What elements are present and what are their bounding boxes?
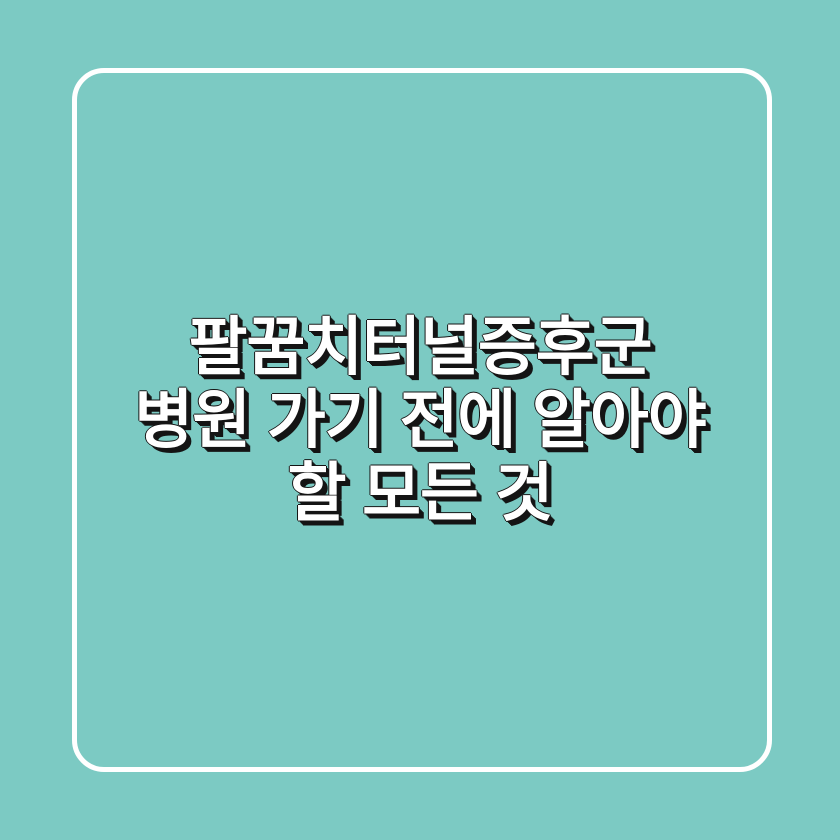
headline-line-2: 병원 가기 전에 알아야 xyxy=(60,384,780,457)
headline-line-1: 팔꿈치터널증후군 xyxy=(60,311,780,384)
headline-line-3: 할 모든 것 xyxy=(60,457,780,530)
headline-block: 팔꿈치터널증후군 병원 가기 전에 알아야 할 모든 것 xyxy=(0,0,840,840)
poster-canvas: 팔꿈치터널증후군 병원 가기 전에 알아야 할 모든 것 xyxy=(0,0,840,840)
